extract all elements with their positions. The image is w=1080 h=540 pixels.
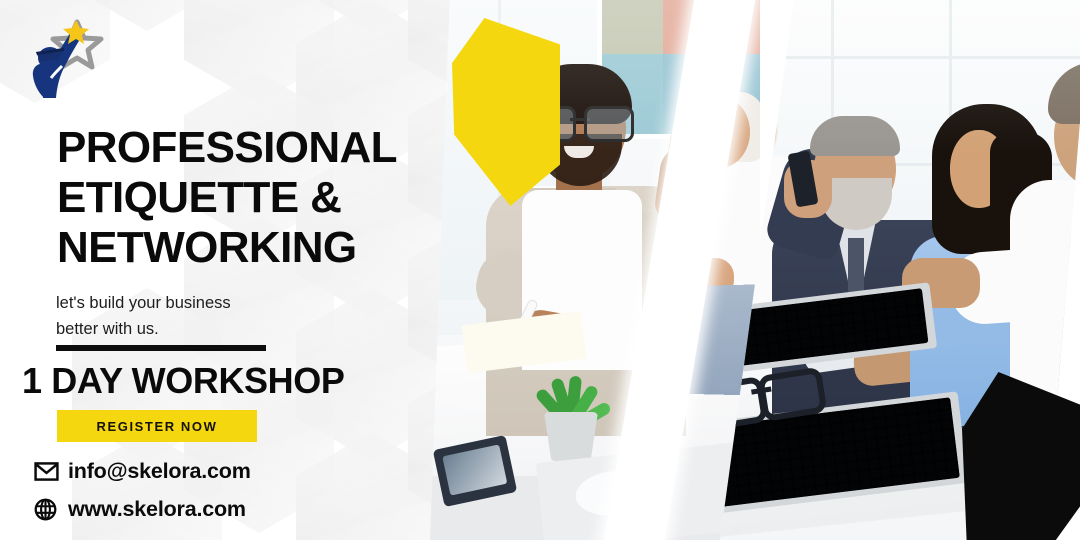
divider-rule bbox=[56, 345, 266, 351]
email-address: info@skelora.com bbox=[68, 459, 251, 484]
skelora-logo bbox=[14, 8, 118, 112]
headline-line-3: NETWORKING bbox=[57, 223, 467, 273]
tagline-line-2: better with us. bbox=[56, 316, 316, 342]
page-title: PROFESSIONAL ETIQUETTE & NETWORKING bbox=[57, 123, 467, 273]
workshop-label: 1 DAY WORKSHOP bbox=[22, 360, 344, 402]
event-flyer: PROFESSIONAL ETIQUETTE & NETWORKING let'… bbox=[0, 0, 1080, 540]
website-row[interactable]: www.skelora.com bbox=[34, 490, 251, 528]
register-now-button[interactable]: REGISTER NOW bbox=[57, 410, 257, 442]
text-content: PROFESSIONAL ETIQUETTE & NETWORKING let'… bbox=[0, 0, 470, 540]
globe-icon bbox=[34, 498, 68, 521]
email-row[interactable]: info@skelora.com bbox=[34, 452, 251, 490]
tagline: let's build your business better with us… bbox=[56, 290, 316, 342]
headline-line-1: PROFESSIONAL bbox=[57, 123, 467, 173]
potted-plant bbox=[534, 372, 608, 462]
website-url: www.skelora.com bbox=[68, 497, 246, 522]
person-typing-white bbox=[1020, 62, 1080, 422]
headline-line-2: ETIQUETTE & bbox=[57, 173, 467, 223]
envelope-icon bbox=[34, 462, 68, 481]
contact-info: info@skelora.com www.skelora.com bbox=[34, 452, 251, 528]
tagline-line-1: let's build your business bbox=[56, 290, 316, 316]
